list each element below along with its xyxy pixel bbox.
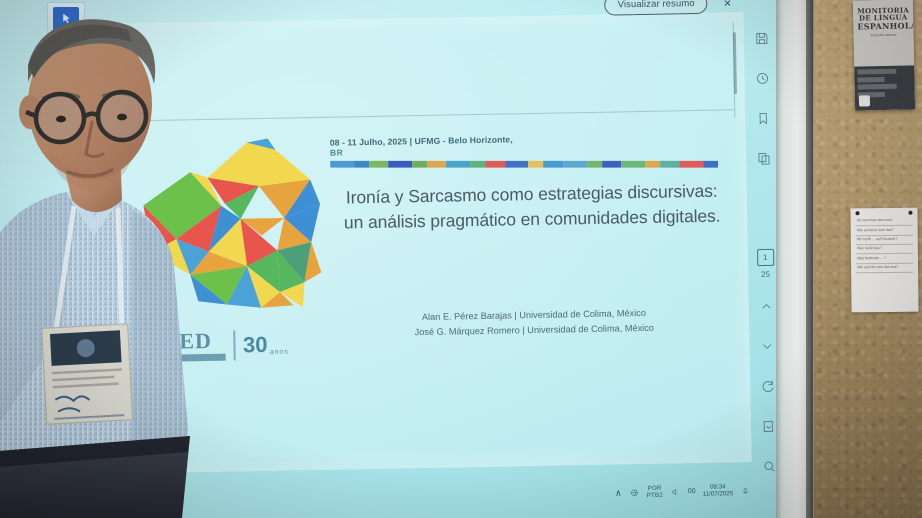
poster-footer-block [854, 65, 915, 110]
anniversary-unit: anos [270, 348, 289, 355]
clock-date: 11/07/2025 [703, 490, 734, 498]
network-icon[interactable] [628, 487, 639, 498]
door-frame-edge [776, 0, 781, 518]
poster-monitoria-espanhola: MONITORIA DE LÍNGUA ESPANHOLA inscrições… [853, 0, 915, 111]
pin-icon [855, 211, 859, 215]
conference-name-badge [42, 324, 133, 424]
battery-indicator[interactable]: 00 [688, 488, 696, 495]
rail-spacer [764, 178, 765, 249]
anniversary-number: 30 [243, 333, 268, 355]
bookmark-icon[interactable] [752, 107, 774, 129]
notification-icon[interactable] [740, 484, 751, 495]
colorbar-segment [388, 161, 412, 168]
poster-title-line-3: ESPANHOLA [857, 21, 909, 30]
presenter-person [0, 0, 217, 518]
colorbar-segment [621, 161, 645, 168]
wall-note-german-phrases: Ich vermisse das noch Wie scheinst man d… [850, 208, 918, 313]
colorbar-segment [529, 161, 544, 168]
colorbar-segment [470, 161, 485, 168]
poster-institution-mark [859, 95, 870, 106]
page-down-icon[interactable] [756, 335, 778, 357]
slide-authors: Alan E. Pérez Barajas | Universidad de C… [341, 304, 727, 341]
poster-footer-line [858, 84, 897, 90]
logo-separator [233, 330, 235, 360]
colorbar-segment [354, 161, 369, 168]
slide-header: 08 - 11 Julho, 2025 | UFMG - Belo Horizo… [330, 130, 730, 157]
poster-footer-line [857, 76, 884, 82]
volume-icon[interactable] [670, 486, 681, 497]
colorbar-segment [330, 161, 354, 168]
colorbar-segment [544, 161, 563, 168]
language-line-2: PTB2 [647, 492, 663, 499]
colorbar-segment [679, 161, 703, 168]
history-icon[interactable] [751, 67, 773, 89]
windows-taskbar-tray: ∧ POR PTB2 00 08:34 11/07/2025 [608, 474, 787, 508]
colorbar-segment [703, 161, 718, 168]
poster-subtitle: inscrições abertas [858, 33, 910, 38]
colorbar-segment [505, 161, 529, 168]
screenshot-scene: MONITORIA DE LÍNGUA ESPANHOLA inscrições… [0, 0, 922, 518]
colorbar-segment [645, 161, 660, 168]
poster-footer-line [857, 69, 896, 75]
page-total-label: 25 [761, 270, 770, 279]
slide-title: Ironía y Sarcasmo como estrategias discu… [339, 178, 726, 234]
colorbar-segment [587, 161, 602, 168]
colorbar-segment [447, 161, 471, 168]
slide-colorbar [330, 161, 718, 168]
save-icon[interactable] [750, 27, 772, 49]
wall-edge-shadow [806, 0, 813, 518]
copy-icon[interactable] [752, 147, 774, 169]
colorbar-segment [485, 161, 504, 168]
pin-icon [908, 211, 912, 215]
clock[interactable]: 08:34 11/07/2025 [702, 483, 733, 498]
colorbar-segment [602, 161, 621, 168]
page-up-icon[interactable] [755, 295, 777, 317]
colorbar-segment [427, 161, 446, 168]
page-number-input[interactable]: 1 [757, 249, 774, 266]
show-hidden-icons-icon[interactable]: ∧ [615, 487, 622, 498]
note-line: Wie spricht man das aus? [856, 263, 913, 273]
colorbar-segment [369, 161, 388, 168]
language-indicator[interactable]: POR PTB2 [646, 485, 663, 500]
colorbar-segment [660, 161, 679, 168]
colorbar-segment [412, 161, 427, 168]
colorbar-segment [563, 161, 587, 168]
